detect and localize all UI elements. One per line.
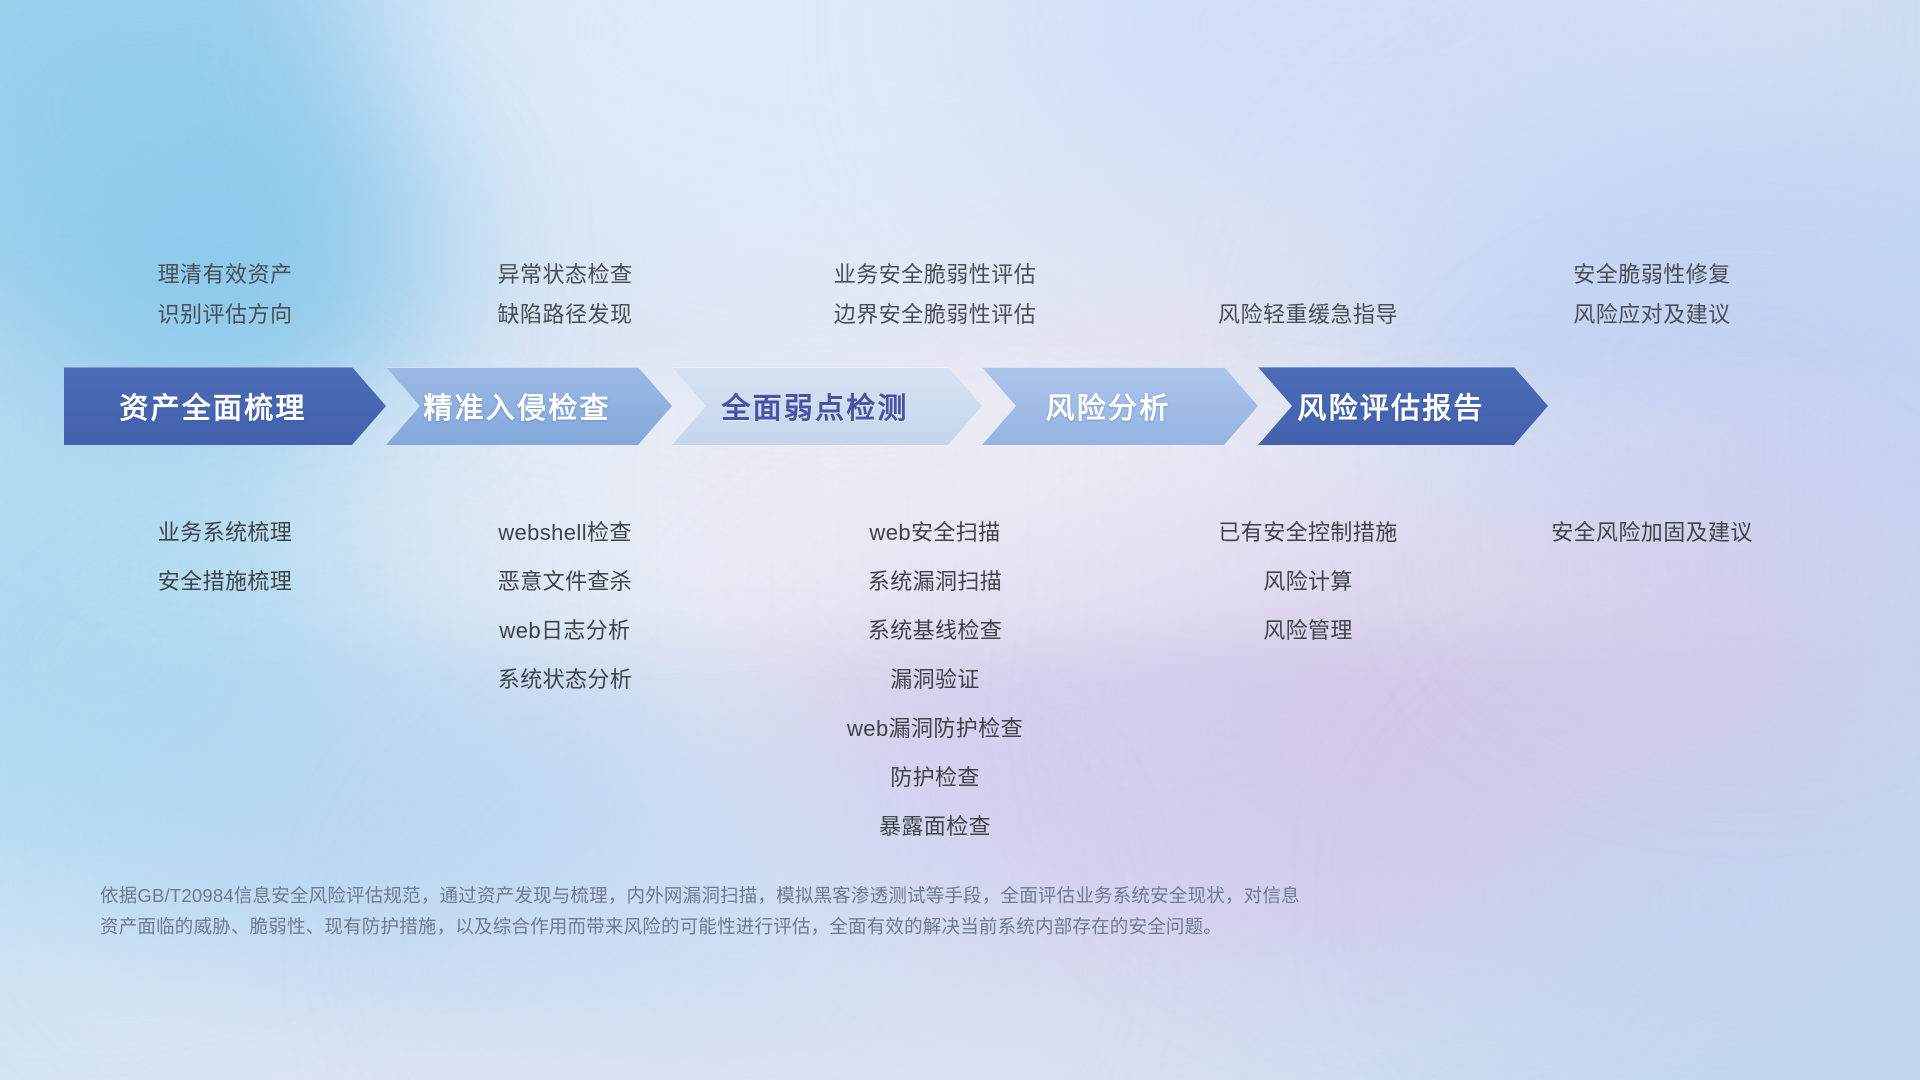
- bottom-caption-item: 风险计算: [1263, 571, 1353, 593]
- top-caption-item: 异常状态检查: [497, 264, 632, 286]
- top-caption-item: 风险轻重缓急指导: [1218, 304, 1398, 326]
- top-caption-item: 风险应对及建议: [1573, 304, 1731, 326]
- bottom-caption-column-1: 业务系统梳理安全措施梳理: [158, 522, 292, 620]
- bottom-caption-item: 风险管理: [1263, 620, 1353, 642]
- top-caption-item: 业务安全脆弱性评估: [834, 264, 1037, 286]
- top-caption-item: 缺陷路径发现: [497, 304, 632, 326]
- bottom-caption-item: 漏洞验证: [890, 669, 980, 691]
- chevron-band: 资产全面梳理精准入侵检查全面弱点检测风险分析风险评估报告: [64, 367, 1548, 445]
- bottom-caption-column-4: 已有安全控制措施风险计算风险管理: [1218, 522, 1397, 669]
- chevron-step-1[interactable]: 资产全面梳理: [64, 367, 386, 445]
- bottom-caption-item: 系统状态分析: [498, 669, 632, 691]
- top-caption-item: 识别评估方向: [157, 304, 292, 326]
- footer-line-2: 资产面临的威胁、脆弱性、现有防护措施，以及综合作用而带来风险的可能性进行评估，全…: [100, 911, 1610, 942]
- chevron-step-label: 精准入侵检查: [423, 385, 610, 427]
- bottom-caption-item: web安全扫描: [869, 522, 1000, 544]
- chevron-step-label: 全面弱点检测: [721, 385, 908, 427]
- top-caption-item: 边界安全脆弱性评估: [834, 304, 1037, 326]
- bottom-caption-item: web漏洞防护检查: [847, 718, 1023, 740]
- bottom-caption-item: 安全措施梳理: [158, 571, 292, 593]
- chevron-step-label: 资产全面梳理: [119, 385, 306, 427]
- bottom-caption-item: webshell检查: [498, 522, 632, 544]
- bottom-caption-item: 暴露面检查: [879, 816, 991, 838]
- chevron-step-2[interactable]: 精准入侵检查: [386, 367, 672, 445]
- bottom-caption-item: 安全风险加固及建议: [1551, 522, 1753, 544]
- bottom-caption-column-5: 安全风险加固及建议: [1551, 522, 1753, 571]
- bottom-caption-column-2: webshell检查恶意文件查杀web日志分析系统状态分析: [498, 522, 632, 718]
- chevron-step-label: 风险分析: [1046, 385, 1171, 427]
- bottom-caption-item: web日志分析: [499, 620, 630, 642]
- process-diagram: 理清有效资产识别评估方向异常状态检查缺陷路径发现业务安全脆弱性评估边界安全脆弱性…: [0, 0, 1920, 1080]
- bottom-caption-column-3: web安全扫描系统漏洞扫描系统基线检查漏洞验证web漏洞防护检查防护检查暴露面检…: [847, 522, 1023, 865]
- bottom-caption-item: 恶意文件查杀: [498, 571, 632, 593]
- chevron-step-3[interactable]: 全面弱点检测: [672, 367, 982, 445]
- bottom-caption-item: 业务系统梳理: [158, 522, 292, 544]
- bottom-caption-item: 已有安全控制措施: [1218, 522, 1397, 544]
- top-caption-item: 理清有效资产: [157, 264, 292, 286]
- chevron-step-label: 风险评估报告: [1297, 385, 1484, 427]
- chevron-step-5[interactable]: 风险评估报告: [1258, 367, 1548, 445]
- bottom-caption-item: 系统漏洞扫描: [868, 571, 1002, 593]
- chevron-step-4[interactable]: 风险分析: [982, 367, 1258, 445]
- bottom-caption-item: 防护检查: [890, 767, 980, 789]
- footer-description: 依据GB/T20984信息安全风险评估规范，通过资产发现与梳理，内外网漏洞扫描，…: [100, 880, 1610, 942]
- top-caption-item: 安全脆弱性修复: [1573, 264, 1731, 286]
- bottom-caption-item: 系统基线检查: [868, 620, 1002, 642]
- footer-line-1: 依据GB/T20984信息安全风险评估规范，通过资产发现与梳理，内外网漏洞扫描，…: [100, 880, 1610, 911]
